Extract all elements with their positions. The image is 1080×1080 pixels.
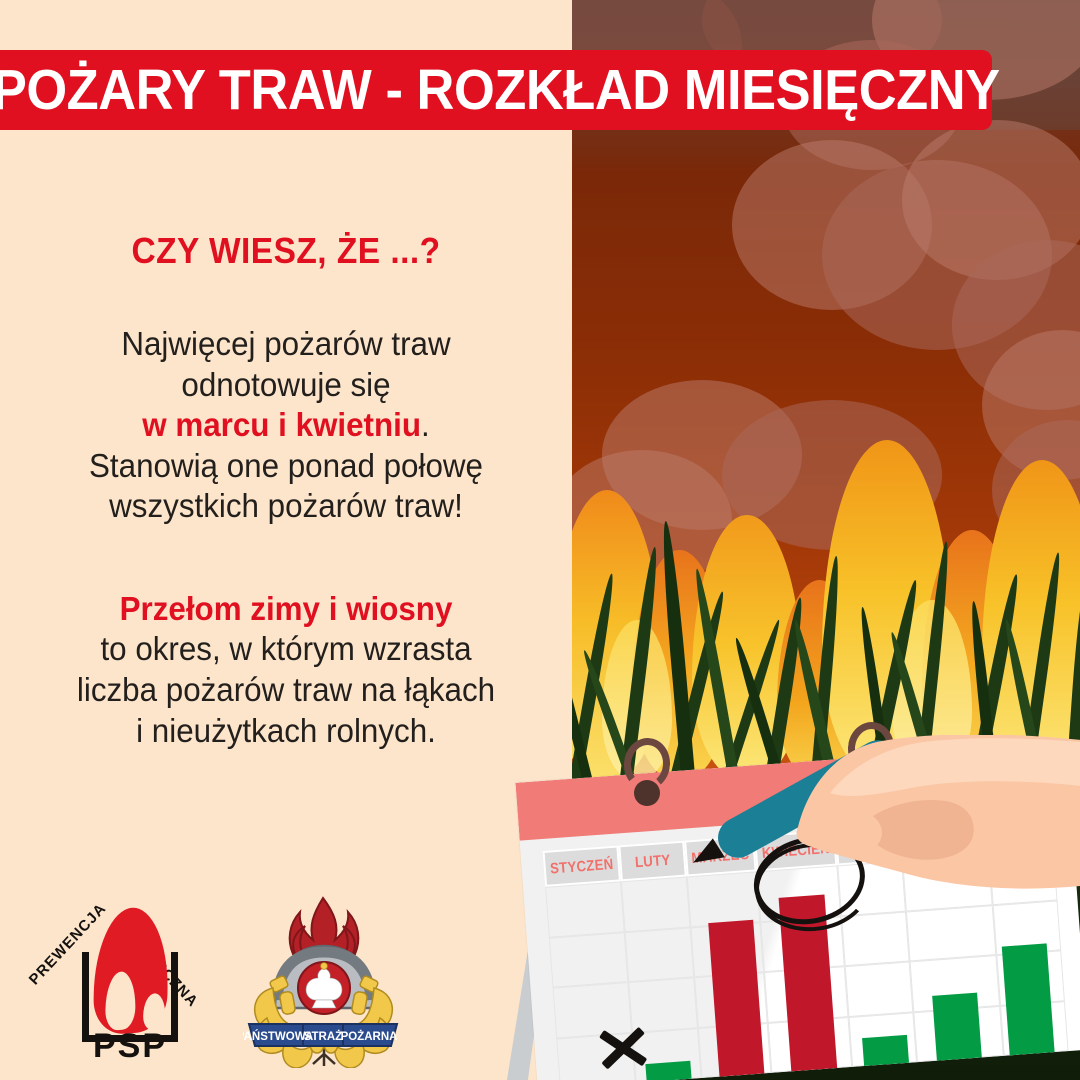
- para1-line2: odnotowuje się: [181, 366, 390, 403]
- para1-highlight-tail: .: [421, 406, 430, 443]
- title-banner: POŻARY TRAW - ROZKŁAD MIESIĘCZNY: [0, 50, 992, 130]
- flame-icon: [93, 905, 169, 1036]
- hand-with-marker: [690, 735, 1080, 925]
- fire-service-emblem-icon: PAŃSTWOWA STRAŻ POŻARNA: [243, 896, 403, 1068]
- chart-bar: [862, 1035, 909, 1066]
- chart-bar: [645, 1061, 691, 1080]
- infographic-poster: POŻARY TRAW - ROZKŁAD MIESIĘCZNY CZY WIE…: [0, 0, 1080, 1080]
- para2-line3: liczba pożarów traw na łąkach: [77, 671, 495, 708]
- straz-banner-right-text: POŻARNA: [341, 1030, 398, 1043]
- para2-line4: i nieużytkach rolnych.: [136, 712, 436, 749]
- para1-line1: Najwięcej pożarów traw: [121, 325, 450, 362]
- text-column: CZY WIESZ, ŻE ...? Najwięcej pożarów tra…: [0, 140, 572, 840]
- psp-acronym: PSP: [82, 1027, 178, 1066]
- para1-line5: wszystkich pożarów traw!: [109, 487, 463, 524]
- month-label: LUTY: [634, 851, 671, 871]
- month-label: STYCZEŃ: [550, 855, 615, 877]
- kicker-heading: CZY WIESZ, ŻE ...?: [40, 230, 531, 272]
- chart-bar: [708, 920, 764, 1076]
- prewencja-spoleczna-psp-logo: PREWENCJA SPOŁECZNA PSP: [38, 900, 213, 1068]
- straz-banner-left-text: PAŃSTWOWA: [243, 1030, 313, 1043]
- styczen-cross-annotation: [593, 1018, 651, 1076]
- para2-line2: to okres, w którym wzrasta: [100, 630, 471, 667]
- panstwowa-straz-pozarna-logo: PAŃSTWOWA STRAŻ POŻARNA: [243, 896, 403, 1068]
- binder-ring-dot: [634, 780, 660, 806]
- page-title: POŻARY TRAW - ROZKŁAD MIESIĘCZNY: [0, 62, 1000, 119]
- straz-banner-mid-text: STRAŻ: [304, 1030, 342, 1043]
- para2-highlight: Przełom zimy i wiosny: [120, 590, 453, 627]
- hand-shape: [797, 735, 1080, 889]
- para1-highlight: w marcu i kwietniu: [142, 406, 421, 443]
- paragraph-two: Przełom zimy i wiosny to okres, w którym…: [35, 589, 537, 751]
- logo-row: PREWENCJA SPOŁECZNA PSP: [38, 896, 403, 1068]
- para1-line4: Stanowią one ponad połowę: [89, 447, 483, 484]
- paragraph-one: Najwięcej pożarów traw odnotowuje się w …: [35, 324, 537, 527]
- month-header-cell: LUTY: [618, 841, 686, 882]
- month-header-cell: STYCZEŃ: [543, 845, 622, 886]
- chart-bar: [1002, 943, 1055, 1055]
- chart-bar: [932, 993, 982, 1061]
